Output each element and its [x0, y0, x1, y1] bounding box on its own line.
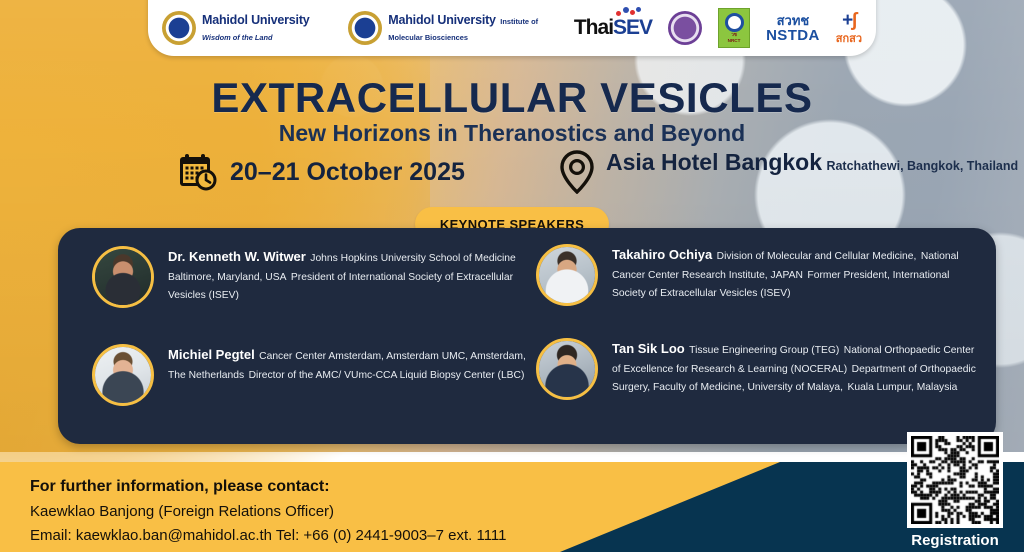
tsri-logo: +ʃ สกสว	[836, 6, 862, 50]
avatar	[92, 344, 154, 406]
registration-block[interactable]: Registration	[903, 432, 1007, 549]
nstda-logo: สวทช NSTDA	[766, 6, 820, 50]
speaker-item: Tan Sik Loo Tissue Engineering Group (TE…	[536, 338, 976, 400]
event-meta: 20–21 October 2025 Asia Hotel Bangkok Ra…	[0, 152, 1024, 202]
speaker-affiliation: Division of Molecular and Cellular Medic…	[717, 251, 917, 262]
nrct-emblem-icon: วช NRCT	[718, 8, 750, 48]
sponsor-logo-bar: Mahidol University Wisdom of the Land Ma…	[148, 0, 876, 56]
registration-qr-code[interactable]	[907, 432, 1003, 528]
thai-sev-text-primary: Thai	[574, 16, 613, 39]
speaker-affiliation: Director of the AMC/ VUmc-CCA Liquid Bio…	[249, 370, 525, 381]
logo-line-2: Institute of	[500, 17, 538, 26]
venue-address: Ratchathewi, Bangkok, Thailand	[826, 159, 1018, 173]
thai-sev-dots-icon	[614, 7, 642, 19]
mahidol-imb-seal-icon	[348, 11, 382, 45]
thai-sev-text-secondary: SEV	[613, 16, 652, 39]
logo-line-1: Mahidol University	[388, 13, 496, 27]
chulabhorn-royal-academy-logo	[668, 6, 702, 50]
mahidol-seal-icon	[162, 11, 196, 45]
logo-line-2: Wisdom of the Land	[202, 33, 273, 42]
event-date: 20–21 October 2025	[230, 158, 465, 187]
nrct-logo: วช NRCT	[718, 6, 750, 50]
contact-heading: For further information, please contact:	[30, 474, 507, 500]
speaker-item: Michiel Pegtel Cancer Center Amsterdam, …	[92, 344, 542, 406]
map-pin-icon	[560, 150, 594, 194]
tsri-mark-icon: +ʃ	[842, 10, 855, 31]
speaker-name: Tan Sik Loo	[612, 341, 685, 356]
avatar	[536, 338, 598, 400]
logo-line-3: Molecular Biosciences	[388, 33, 468, 42]
mahidol-university-logo: Mahidol University Wisdom of the Land	[162, 6, 332, 50]
page-subtitle: New Horizons in Theranostics and Beyond	[0, 120, 1024, 147]
contact-person: Kaewklao Banjong (Foreign Relations Offi…	[30, 500, 507, 524]
speaker-item: Dr. Kenneth W. Witwer Johns Hopkins Univ…	[92, 246, 542, 308]
event-venue-block: Asia Hotel Bangkok Ratchathewi, Bangkok,…	[560, 150, 1018, 194]
footer: For further information, please contact:…	[0, 462, 1024, 552]
nstda-english-label: NSTDA	[766, 27, 820, 44]
chulabhorn-seal-icon	[668, 11, 702, 45]
speaker-name: Michiel Pegtel	[168, 347, 255, 362]
speaker-affiliation: Kuala Lumpur, Malaysia	[847, 382, 957, 393]
contact-block: For further information, please contact:…	[30, 474, 507, 549]
speaker-affiliation: Tissue Engineering Group (TEG)	[689, 345, 839, 356]
tsri-thai-label: สกสว	[836, 33, 862, 45]
speaker-name: Dr. Kenneth W. Witwer	[168, 249, 306, 264]
contact-details: Email: kaewklao.ban@mahidol.ac.th Tel: +…	[30, 524, 507, 548]
registration-label: Registration	[903, 532, 1007, 549]
nstda-thai-label: สวทช	[777, 13, 810, 28]
mahidol-institute-molecular-biosciences-logo: Mahidol University Institute of Molecula…	[348, 6, 558, 50]
page-title: EXTRACELLULAR VESICLES	[0, 74, 1024, 122]
speaker-item: Takahiro Ochiya Division of Molecular an…	[536, 244, 976, 306]
calendar-clock-icon	[178, 152, 218, 192]
speaker-name: Takahiro Ochiya	[612, 247, 712, 262]
avatar	[92, 246, 154, 308]
avatar	[536, 244, 598, 306]
keynote-speakers-card: Dr. Kenneth W. Witwer Johns Hopkins Univ…	[58, 228, 996, 444]
conference-poster: Mahidol University Wisdom of the Land Ma…	[0, 0, 1024, 552]
thai-sev-logo: ThaiSEV	[574, 6, 652, 50]
venue-name: Asia Hotel Bangkok	[606, 149, 822, 175]
nrct-thai-label: วช	[731, 33, 737, 38]
event-date-block: 20–21 October 2025	[178, 152, 465, 192]
logo-line-1: Mahidol University	[202, 13, 310, 27]
nrct-abbrev-label: NRCT	[728, 39, 741, 44]
